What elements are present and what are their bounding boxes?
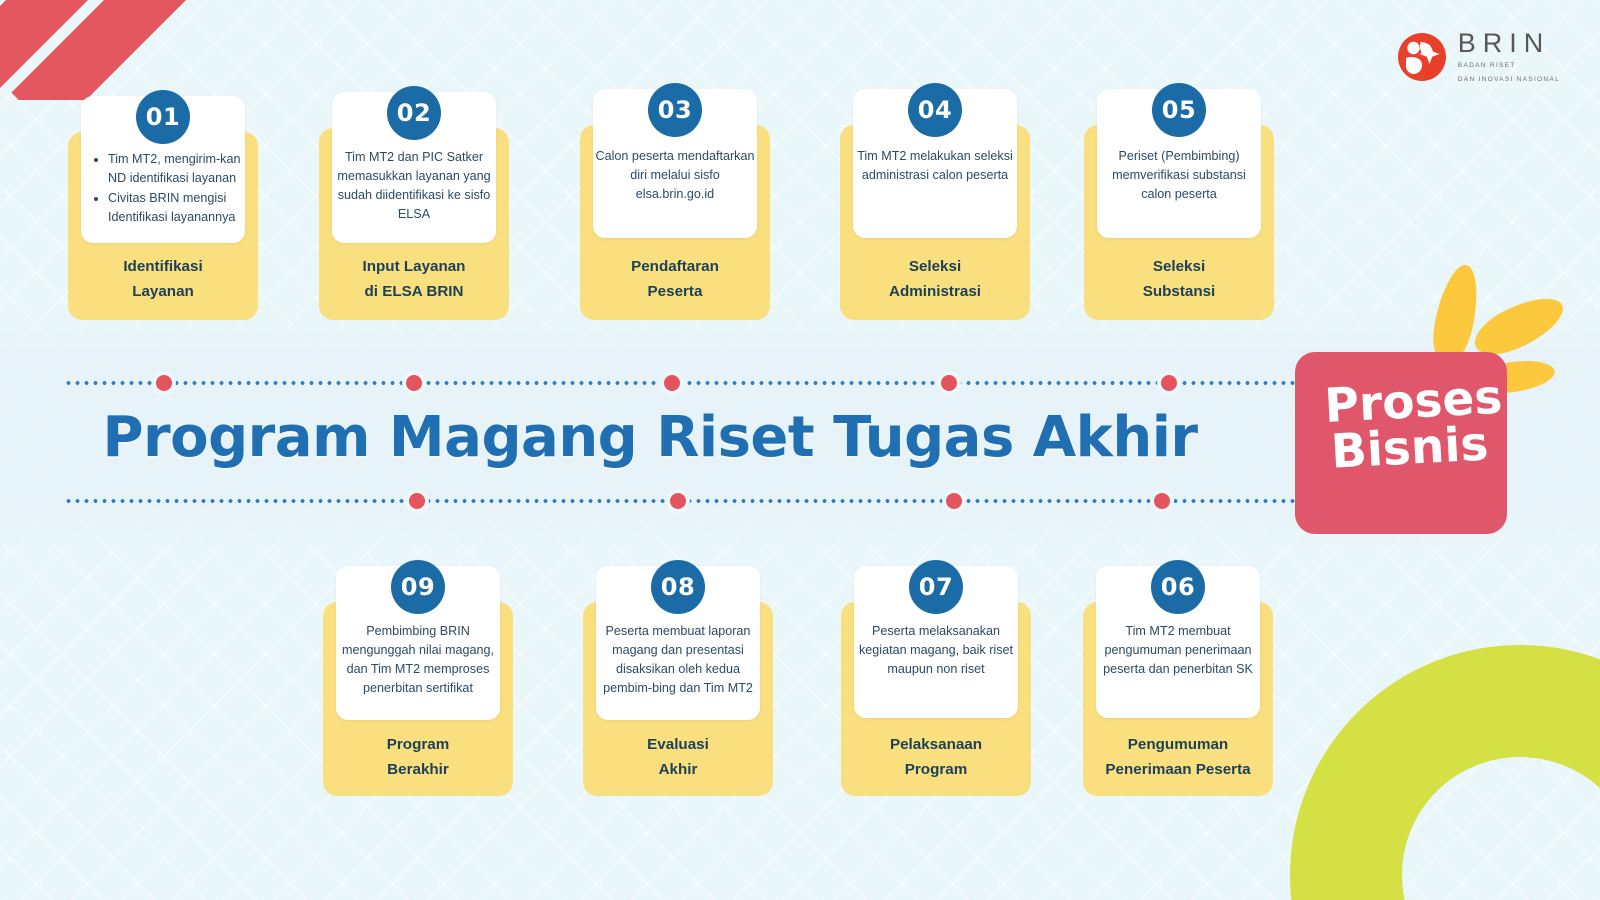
infographic-canvas: BRIN BADAN RISET DAN INOVASI NASIONAL Pr… <box>0 0 1600 900</box>
badge-label: Proses Bisnis <box>1292 347 1510 478</box>
timeline-lower <box>64 496 1300 506</box>
step-title: Pengumuman Penerimaan Peserta <box>1073 733 1283 782</box>
step-card-01[interactable]: 01 Tim MT2, mengirim-kan ND identifikasi… <box>68 90 258 320</box>
step-number-badge: 02 <box>387 86 441 140</box>
step-description: Tim MT2 melakukan seleksi administrasi c… <box>853 147 1017 185</box>
step-number-badge: 09 <box>391 560 445 614</box>
timeline-dot <box>943 490 965 512</box>
step-number-badge: 01 <box>136 90 190 144</box>
brin-logo: BRIN BADAN RISET DAN INOVASI NASIONAL <box>1396 30 1560 84</box>
timeline-dot <box>1151 490 1173 512</box>
step-card-03[interactable]: 03 Calon peserta mendaftarkan diri melal… <box>580 83 770 320</box>
step-title: Input Layanan di ELSA BRIN <box>319 255 509 304</box>
step-card-02[interactable]: 02 Tim MT2 dan PIC Satker memasukkan lay… <box>319 86 509 320</box>
step-description: Peserta membuat laporan magang dan prese… <box>596 622 760 699</box>
step-title: Evaluasi Akhir <box>583 733 773 782</box>
page-title: Program Magang Riset Tugas Akhir <box>0 405 1300 470</box>
brin-mark-icon <box>1396 31 1448 83</box>
step-card-06[interactable]: 06 Tim MT2 membuat pengumuman penerimaan… <box>1083 560 1273 796</box>
badge-line-2: Bisnis <box>1330 420 1510 475</box>
step-title: Seleksi Administrasi <box>840 255 1030 304</box>
timeline-dot <box>667 490 689 512</box>
timeline-dot <box>661 372 683 394</box>
step-description: Peserta melaksanakan kegiatan magang, ba… <box>854 622 1018 679</box>
step-card-07[interactable]: 07 Peserta melaksanakan kegiatan magang,… <box>841 560 1031 796</box>
step-number-badge: 06 <box>1151 560 1205 614</box>
timeline-dot <box>406 490 428 512</box>
brin-subtitle-line1: BADAN RISET <box>1458 61 1560 71</box>
brin-wordmark: BRIN BADAN RISET DAN INOVASI NASIONAL <box>1458 30 1560 84</box>
timeline-dot <box>403 372 425 394</box>
timeline-dot <box>938 372 960 394</box>
proses-bisnis-badge: Proses Bisnis <box>1295 352 1507 534</box>
step-title: Program Berakhir <box>323 733 513 782</box>
step-description: Pembimbing BRIN mengunggah nilai magang,… <box>336 622 500 699</box>
step-title: Pelaksanaan Program <box>841 733 1031 782</box>
timeline-upper <box>64 378 1300 388</box>
step-title: Seleksi Substansi <box>1084 255 1274 304</box>
step-number-badge: 03 <box>648 83 702 137</box>
step-card-08[interactable]: 08 Peserta membuat laporan magang dan pr… <box>583 560 773 796</box>
timeline-dot <box>1158 372 1180 394</box>
step-description: Tim MT2 membuat pengumuman penerimaan pe… <box>1096 622 1260 679</box>
step-title: Pendaftaran Peserta <box>580 255 770 304</box>
step-description: Periset (Pembimbing) memverifikasi subst… <box>1097 147 1261 204</box>
step-description: Calon peserta mendaftarkan diri melalui … <box>593 147 757 204</box>
step-number-badge: 04 <box>908 83 962 137</box>
step-card-05[interactable]: 05 Periset (Pembimbing) memverifikasi su… <box>1084 83 1274 320</box>
step-number-badge: 07 <box>909 560 963 614</box>
step-bullet: Tim MT2, mengirim-kan ND identifikasi la… <box>108 150 245 188</box>
step-description: Tim MT2, mengirim-kan ND identifikasi la… <box>81 150 245 229</box>
step-card-09[interactable]: 09 Pembimbing BRIN mengunggah nilai maga… <box>323 560 513 796</box>
step-card-04[interactable]: 04 Tim MT2 melakukan seleksi administras… <box>840 83 1030 320</box>
step-number-badge: 05 <box>1152 83 1206 137</box>
step-number-badge: 08 <box>651 560 705 614</box>
corner-stripes-decoration <box>0 0 310 100</box>
green-arc-decoration <box>1290 645 1600 900</box>
brin-name: BRIN <box>1458 30 1560 57</box>
step-bullet: Civitas BRIN mengisi Identifikasi layana… <box>108 189 245 227</box>
step-description: Tim MT2 dan PIC Satker memasukkan layana… <box>332 148 496 225</box>
step-title: Identifikasi Layanan <box>68 255 258 304</box>
timeline-dot <box>153 372 175 394</box>
brin-subtitle-line2: DAN INOVASI NASIONAL <box>1458 75 1560 85</box>
